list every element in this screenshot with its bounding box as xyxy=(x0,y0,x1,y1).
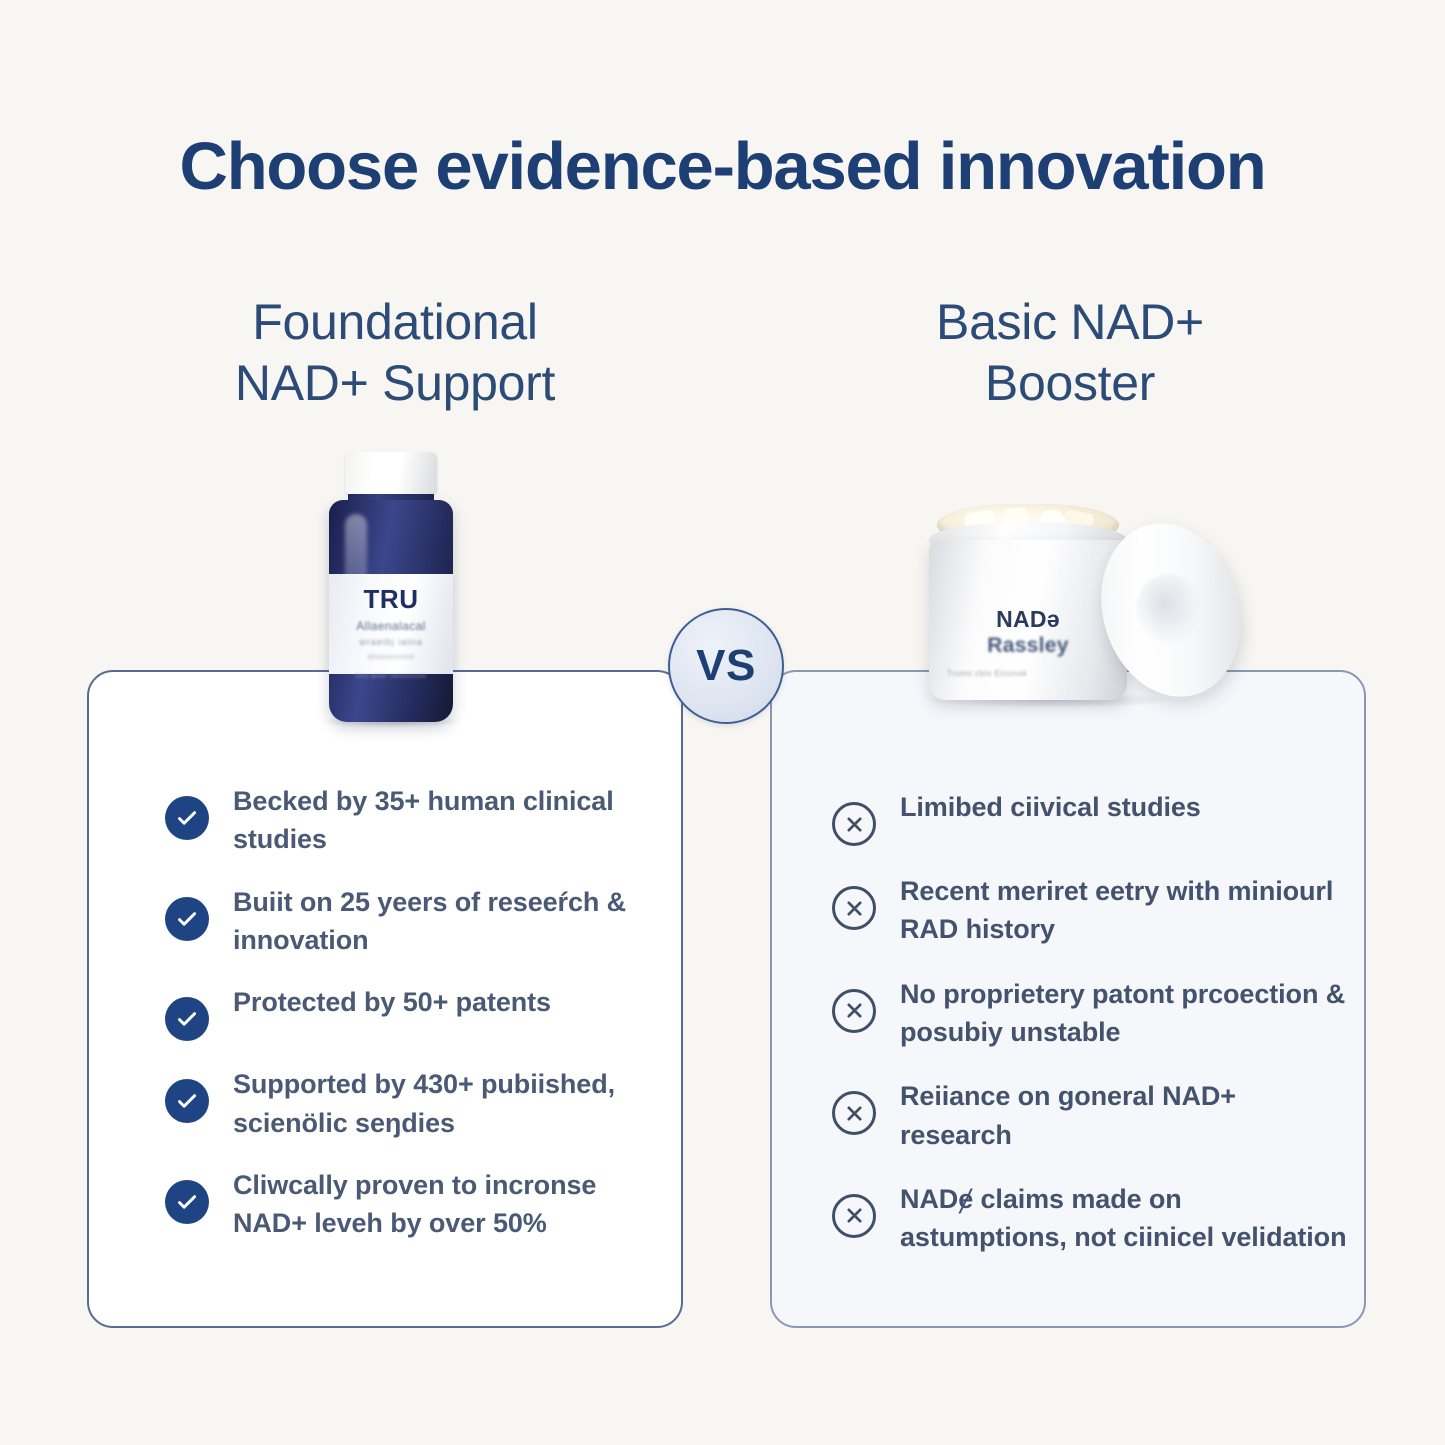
check-icon xyxy=(165,897,209,941)
product-image-cream-jar: NADə Rassley Trumo cbio Eicunoä xyxy=(915,500,1245,722)
feature-row: No proprietery patont prcoection & posub… xyxy=(832,975,1350,1052)
jar-body: NADə Rassley Trumo cbio Eicunoä xyxy=(929,540,1127,700)
column-heading-right: Basic NAD+ Booster xyxy=(810,292,1330,414)
product-image-supplement-bottle: TRU Allaenalacal wraeibj iatna desonnnmt… xyxy=(315,452,467,722)
check-icon xyxy=(165,1079,209,1123)
page-title: Choose evidence-based innovation xyxy=(0,128,1445,205)
feature-list-right: Limibed ciivical studies Recent meriret … xyxy=(832,788,1350,1283)
check-icon xyxy=(165,796,209,840)
feature-label: Becked by 35+ human clinical studies xyxy=(233,782,635,859)
column-heading-right-line1: Basic NAD+ xyxy=(810,292,1330,353)
jar-label-line2: Rassley xyxy=(929,634,1127,658)
feature-row: Becked by 35+ human clinical studies xyxy=(165,782,635,859)
feature-label: Limibed ciivical studies xyxy=(900,788,1201,826)
feature-label: NADɇ claims made on astumptions, not cii… xyxy=(900,1180,1350,1257)
infographic-canvas: Choose evidence-based innovation Foundat… xyxy=(0,0,1445,1445)
bottle-label-line2: Allaenalacal xyxy=(356,619,426,633)
jar-label-fineprint: Trumo cbio Eicunoä xyxy=(947,668,1057,680)
feature-row: Protected by 50+ patents xyxy=(165,983,635,1041)
bottle-label-line4: desonnnmtd xyxy=(368,654,415,661)
bottle-brand-text: TRU xyxy=(364,584,419,615)
check-icon xyxy=(165,1180,209,1224)
feature-label: Protected by 50+ patents xyxy=(233,983,551,1021)
feature-label: No proprietery patont prcoection & posub… xyxy=(900,975,1350,1052)
check-icon xyxy=(165,997,209,1041)
bottle-label-line5: hes aner-seossssm xyxy=(356,673,427,680)
bottle-cap xyxy=(345,452,437,494)
feature-label: Buiit on 25 yeers of reseeŕch & innovati… xyxy=(233,883,635,960)
feature-row: Reiiance on goneral NAD+ research xyxy=(832,1077,1350,1154)
vs-badge: VS xyxy=(668,608,784,724)
feature-row: Supported by 430+ pubiished, scienölic s… xyxy=(165,1065,635,1142)
column-heading-left-line1: Foundational xyxy=(135,292,655,353)
feature-label: Supported by 430+ pubiished, scienölic s… xyxy=(233,1065,635,1142)
feature-row: Limibed ciivical studies xyxy=(832,788,1350,846)
column-heading-left-line2: NAD+ Support xyxy=(135,353,655,414)
vs-badge-label: VS xyxy=(696,641,756,691)
feature-row: Recent meriret eetry with miniourl RAD h… xyxy=(832,872,1350,949)
x-circle-icon xyxy=(832,1091,876,1135)
feature-list-left: Becked by 35+ human clinical studies Bui… xyxy=(165,782,635,1267)
x-circle-icon xyxy=(832,989,876,1033)
feature-row: Buiit on 25 yeers of reseeŕch & innovati… xyxy=(165,883,635,960)
bottle-label-line3: wraeibj iatna xyxy=(359,637,423,647)
column-heading-left: Foundational NAD+ Support xyxy=(135,292,655,414)
jar-label-line1: NADə xyxy=(929,606,1127,633)
x-circle-icon xyxy=(832,1194,876,1238)
x-circle-icon xyxy=(832,886,876,930)
feature-label: Cliwcally proven to incronse NAD+ leveh … xyxy=(233,1166,635,1243)
x-circle-icon xyxy=(832,802,876,846)
feature-row: NADɇ claims made on astumptions, not cii… xyxy=(832,1180,1350,1257)
jar-lid-emboss xyxy=(1128,567,1211,652)
feature-label: Recent meriret eetry with miniourl RAD h… xyxy=(900,872,1350,949)
bottle-label: TRU Allaenalacal wraeibj iatna desonnnmt… xyxy=(329,574,453,674)
feature-label: Reiiance on goneral NAD+ research xyxy=(900,1077,1350,1154)
feature-row: Cliwcally proven to incronse NAD+ leveh … xyxy=(165,1166,635,1243)
column-heading-right-line2: Booster xyxy=(810,353,1330,414)
